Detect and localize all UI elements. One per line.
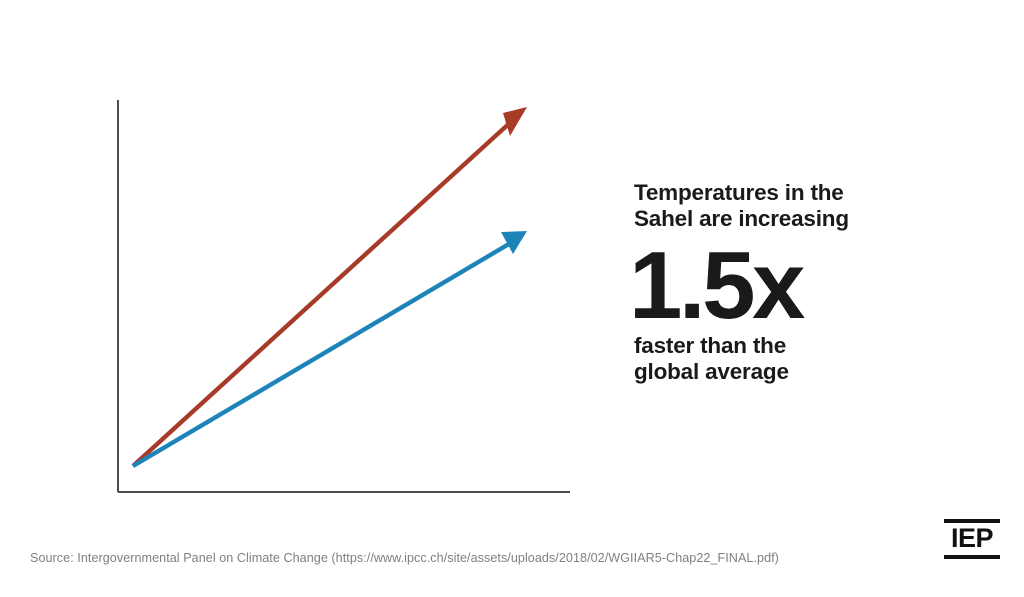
series-arrow-global — [133, 231, 527, 466]
sahel-arrow-head — [503, 107, 527, 136]
callout-subheading-line2: global average — [634, 359, 789, 384]
callout-heading-line1: Temperatures in the — [634, 180, 844, 205]
callout-subheading-line1: faster than the — [634, 333, 786, 358]
callout-statistic: 1.5x — [629, 242, 964, 330]
trend-arrow-chart — [0, 0, 600, 520]
logo-text: IEP — [944, 523, 1000, 555]
callout-block: Temperatures in the Sahel are increasing… — [634, 180, 964, 385]
logo-bottom-bar — [944, 555, 1000, 559]
callout-subheading: faster than the global average — [634, 333, 964, 385]
global-arrow-shaft — [133, 241, 514, 466]
source-caption: Source: Intergovernmental Panel on Clima… — [30, 551, 779, 565]
iep-logo: IEP — [944, 519, 1000, 559]
callout-heading: Temperatures in the Sahel are increasing — [634, 180, 964, 232]
series-arrow-sahel — [133, 107, 527, 466]
infographic-canvas: Temperatures in the Sahel are increasing… — [0, 0, 1024, 597]
sahel-arrow-shaft — [133, 120, 513, 466]
callout-heading-line2: Sahel are increasing — [634, 206, 849, 231]
chart-area — [0, 0, 600, 520]
global-arrow-head — [501, 231, 527, 254]
